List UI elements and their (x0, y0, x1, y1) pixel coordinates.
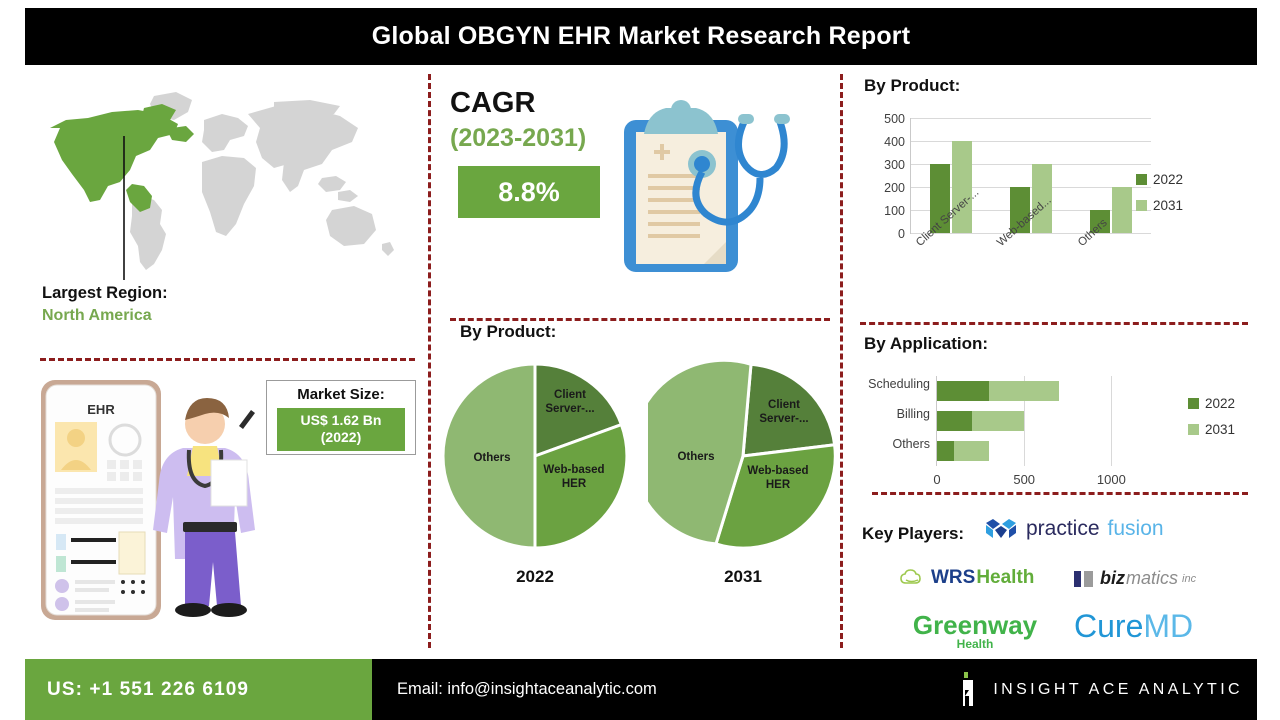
logo-wrs-text: WRS (931, 567, 975, 589)
hbar-plot: Scheduling Billing Others (936, 376, 1155, 466)
logo-curemd: Cure MD (1074, 608, 1193, 645)
largest-region-value: North America (42, 307, 168, 325)
bar-chart-legend: 2022 2031 (1136, 172, 1183, 224)
hbar-rows: Scheduling Billing Others (937, 376, 1155, 466)
legend-item-2022: 2022 (1136, 172, 1183, 187)
hbar-2022-billing (937, 411, 972, 431)
gridline-0: 0 (911, 233, 1151, 234)
ytick-200: 200 (884, 181, 905, 195)
logo-biz-text: biz (1100, 568, 1125, 589)
hbar-2022-others (937, 441, 954, 461)
cagr-period: (2023-2031) (450, 124, 586, 153)
hbar-2031-scheduling (989, 381, 1059, 401)
hbar-2031-billing (972, 411, 1024, 431)
insight-ace-logo-icon (955, 670, 981, 710)
middle-panel: CAGR (2023-2031) 8.8% (440, 72, 838, 650)
legend-label-app-2022: 2022 (1205, 396, 1235, 411)
legend-swatch-app-2031 (1188, 424, 1199, 435)
legend-item-app-2022: 2022 (1188, 396, 1235, 411)
logo-wrshealth: WRS Health (900, 567, 1034, 589)
vertical-divider-left (428, 74, 431, 648)
legend-label-2022: 2022 (1153, 172, 1183, 187)
hbar-2022-scheduling (937, 381, 989, 401)
footer-bar: US: +1 551 226 6109 Email: info@insighta… (25, 659, 1257, 720)
logo-bizmatics: biz matics inc (1074, 568, 1196, 589)
legend-item-app-2031: 2031 (1188, 422, 1235, 437)
key-players-grid: practice fusion WRS Health biz matic (852, 512, 1258, 652)
header-bar: Global OBGYN EHR Market Research Report (25, 8, 1257, 65)
market-size-value: US$ 1.62 Bn (277, 412, 405, 429)
hbar-row-billing: Billing (937, 411, 1155, 431)
logo-practice-text: practice (1026, 517, 1100, 541)
logo-greenway: Greenway Health (900, 612, 1050, 651)
ytick-400: 400 (884, 135, 905, 149)
legend-label-app-2031: 2031 (1205, 422, 1235, 437)
ehr-tablet-icon: EHR (33, 374, 263, 634)
pie-chart-2031: Client Server-... Web-based HER Others 2… (648, 358, 838, 587)
hbar-2031-others (954, 441, 989, 461)
cagr-value: 8.8% (498, 177, 560, 208)
cagr-value-pill: 8.8% (458, 166, 600, 218)
legend-swatch-app-2022 (1188, 398, 1199, 409)
largest-region-block: Largest Region: North America (42, 284, 168, 325)
vertical-divider-right (840, 74, 843, 648)
legend-swatch-2022 (1136, 174, 1147, 185)
legend-item-2031: 2031 (1136, 198, 1183, 213)
logo-practice-fusion: practice fusion (984, 517, 1164, 541)
footer-phone: US: +1 551 226 6109 (47, 679, 249, 701)
svg-text:HER: HER (766, 479, 791, 491)
pie-2031-caption: 2031 (648, 567, 838, 587)
svg-text:Others: Others (677, 451, 714, 463)
cloud-icon (900, 569, 926, 587)
by-product-title: By Product: (864, 76, 960, 96)
world-map-icon (36, 84, 421, 284)
ytick-300: 300 (884, 158, 905, 172)
legend-swatch-2031 (1136, 200, 1147, 211)
cagr-label: CAGR (450, 87, 535, 120)
pie-chart-2022: Client Server-... Web-based HER Others 2… (440, 358, 630, 587)
footer-phone-block: US: +1 551 226 6109 (25, 659, 372, 720)
svg-text:Server-...: Server-... (545, 403, 594, 415)
page-title: Global OBGYN EHR Market Research Report (372, 22, 911, 51)
svg-text:Others: Others (473, 452, 510, 464)
logo-greenway-text: Greenway (900, 612, 1050, 638)
by-application-bar-chart: Scheduling Billing Others (858, 372, 1252, 502)
svg-text:Web-based: Web-based (543, 464, 604, 476)
pie-chart-row: Client Server-... Web-based HER Others 2… (440, 358, 838, 638)
footer-brand-block: INSIGHT ACE ANALYTIC (955, 659, 1243, 720)
svg-text:Web-based: Web-based (747, 465, 808, 477)
svg-text:HER: HER (562, 478, 587, 490)
logo-fusion-text: fusion (1108, 517, 1164, 541)
ytick-100: 100 (884, 204, 905, 218)
svg-text:Server-...: Server-... (759, 413, 808, 425)
ytick-500: 500 (884, 112, 905, 126)
svg-text:Client: Client (554, 389, 586, 401)
logo-cure-text: Cure (1074, 608, 1143, 645)
ylabel-scheduling: Scheduling (868, 377, 930, 391)
hbar-row-scheduling: Scheduling (937, 381, 1155, 401)
largest-region-label: Largest Region: (42, 284, 168, 303)
by-product-bar-chart: 500 400 300 200 100 0 (858, 110, 1252, 310)
xtick-0: 0 (933, 472, 940, 487)
bizmatics-mark-icon (1074, 571, 1096, 587)
bar-2031-others (1112, 187, 1132, 233)
market-size-year: (2022) (277, 429, 405, 446)
middle-section-title: By Product: (460, 322, 556, 342)
market-size-pill: US$ 1.62 Bn (2022) (277, 408, 405, 451)
hbar-chart-legend: 2022 2031 (1188, 396, 1235, 448)
svg-text:Client: Client (768, 399, 800, 411)
clipboard-stethoscope-icon (610, 80, 832, 312)
market-size-label: Market Size: (271, 386, 411, 403)
footer-brand-name: INSIGHT ACE ANALYTIC (993, 681, 1243, 699)
market-size-box: Market Size: US$ 1.62 Bn (2022) (266, 380, 416, 455)
svg-text:EHR: EHR (87, 402, 115, 417)
xtick-500: 500 (1013, 472, 1035, 487)
logo-matics-text: matics (1126, 568, 1178, 589)
ylabel-others: Others (892, 437, 930, 451)
by-application-title: By Application: (864, 334, 988, 354)
logo-md-text: MD (1143, 608, 1193, 645)
logo-inc-text: inc (1182, 573, 1196, 585)
pie-2022-caption: 2022 (440, 567, 630, 587)
ytick-0: 0 (898, 227, 905, 241)
hbar-row-others: Others (937, 441, 1155, 461)
logo-health-text: Health (976, 567, 1034, 589)
ylabel-billing: Billing (897, 407, 930, 421)
footer-email: Email: info@insightaceanalytic.com (397, 659, 657, 720)
legend-label-2031: 2031 (1153, 198, 1183, 213)
right-panel: By Product: 500 400 300 200 100 0 (852, 72, 1258, 650)
xtick-1000: 1000 (1097, 472, 1126, 487)
infographic-page: Global OBGYN EHR Market Research Report (0, 0, 1280, 720)
practice-fusion-cube-icon (984, 517, 1018, 541)
left-panel: Largest Region: North America EHR (28, 72, 423, 650)
bar-group-others (1090, 118, 1132, 233)
